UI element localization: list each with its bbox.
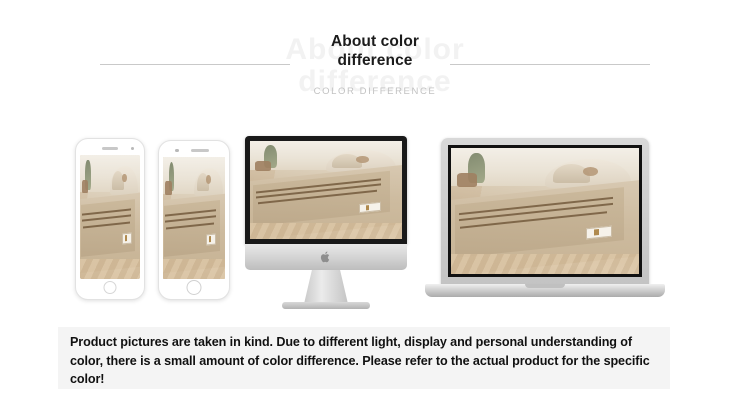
- apple-logo-icon: [321, 251, 332, 263]
- laptop-screen: [451, 148, 639, 274]
- monitor-stand-neck: [304, 270, 348, 304]
- laptop-lid: [441, 138, 649, 286]
- page-title: About color difference: [250, 33, 500, 71]
- speaker-icon: [191, 149, 209, 152]
- home-button-icon: [104, 281, 117, 294]
- smartphone-white-1: [75, 138, 145, 300]
- macbook-laptop: [425, 138, 665, 313]
- header-title-wrap: About color difference: [250, 33, 500, 71]
- rug-product-photo: [80, 155, 140, 279]
- color-difference-infographic: About color difference About color diffe…: [0, 0, 750, 413]
- monitor-screen: [250, 141, 402, 239]
- devices-row: [0, 128, 750, 318]
- page-subtitle: COLOR DIFFERENCE: [250, 86, 500, 97]
- phone-screen-2: [163, 157, 225, 279]
- laptop-bezel: [448, 145, 642, 277]
- smartphone-white-2: [158, 140, 230, 300]
- speaker-icon: [102, 147, 118, 150]
- rug-product-photo: [163, 157, 225, 279]
- header-section: About color difference About color diffe…: [0, 0, 750, 118]
- disclaimer-text: Product pictures are taken in kind. Due …: [70, 333, 662, 389]
- home-button-icon: [187, 280, 202, 295]
- disclaimer-block: Product pictures are taken in kind. Due …: [58, 327, 670, 389]
- camera-icon: [131, 147, 135, 151]
- monitor-chin: [245, 244, 407, 270]
- rug-product-photo: [451, 148, 639, 274]
- phone-screen-1: [80, 155, 140, 279]
- camera-icon: [175, 149, 179, 153]
- imac-desktop-monitor: [245, 136, 407, 316]
- monitor-bezel: [245, 136, 407, 244]
- monitor-stand-foot: [282, 302, 370, 309]
- laptop-hinge-notch: [525, 284, 565, 288]
- rug-product-photo: [250, 141, 402, 239]
